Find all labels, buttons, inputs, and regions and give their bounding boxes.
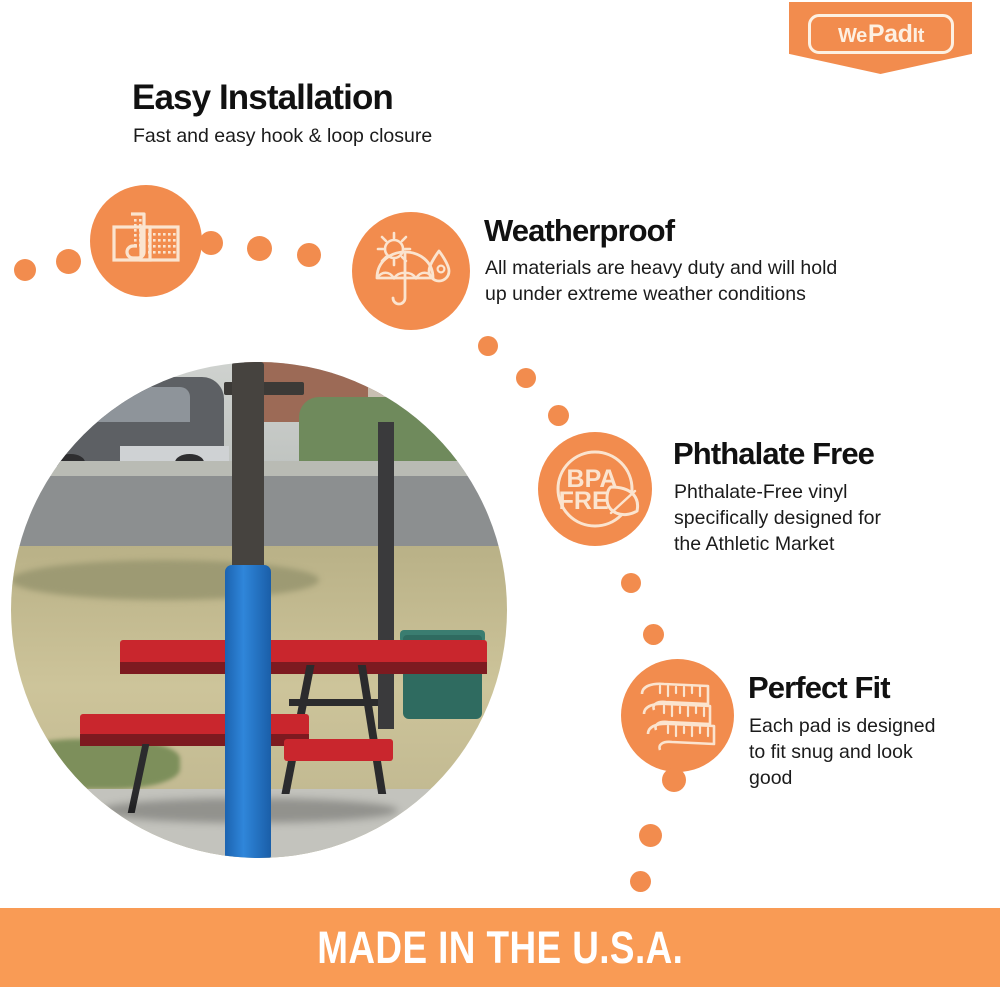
icon-circle-perfect-fit (621, 659, 734, 772)
brand-logo-badge: We Pad It (808, 14, 954, 54)
trail-dot (548, 405, 569, 426)
feature-title-weatherproof: Weatherproof (484, 215, 674, 248)
feature-desc-perfect-fit: Each pad is designed to fit snug and loo… (749, 714, 935, 792)
infographic-page: We Pad It Easy Installation Fast and eas… (0, 0, 1000, 987)
photo-scene (11, 362, 507, 858)
feature-desc-line: Each pad is designed (749, 714, 935, 740)
trail-dot (621, 573, 641, 593)
feature-desc-phthalate-free: Phthalate-Free vinyl specifically design… (674, 480, 881, 558)
trail-dot (478, 336, 498, 356)
measuring-tape-icon (636, 674, 720, 758)
trail-dot (199, 231, 223, 255)
icon-circle-easy-installation (90, 185, 202, 297)
trail-dot (630, 871, 651, 892)
feature-desc-line: good (749, 766, 935, 792)
feature-desc-line: Phthalate-Free vinyl (674, 480, 881, 506)
trail-dot (643, 624, 664, 645)
feature-desc-line: up under extreme weather conditions (485, 282, 837, 308)
trail-dot (297, 243, 321, 267)
photo-hedge (299, 397, 507, 461)
feature-title-easy-installation: Easy Installation (132, 80, 393, 117)
trail-dot (639, 824, 662, 847)
trail-dot (14, 259, 36, 281)
sun-umbrella-raindrop-icon (369, 231, 453, 311)
photo-table-crossbar (289, 699, 378, 706)
feature-desc-line: the Athletic Market (674, 532, 881, 558)
made-in-usa-text: MADE IN THE U.S.A. (317, 922, 683, 974)
photo-post (232, 362, 264, 590)
bpa-free-leaf-badge-icon: BPA FREE (545, 439, 645, 539)
photo-table-top (120, 640, 487, 665)
photo-table-top-edge (120, 662, 487, 674)
photo-grass-green (11, 739, 180, 789)
icon-circle-phthalate-free: BPA FREE (538, 432, 652, 546)
brand-logo-we: We (838, 26, 867, 46)
feature-title-perfect-fit: Perfect Fit (748, 672, 890, 705)
velcro-hook-loop-icon (111, 210, 181, 272)
feature-desc-easy-installation: Fast and easy hook & loop closure (133, 124, 432, 150)
trail-dot (516, 368, 536, 388)
made-in-usa-banner: MADE IN THE U.S.A. (0, 908, 1000, 987)
photo-bench (284, 739, 393, 761)
feature-desc-weatherproof: All materials are heavy duty and will ho… (485, 256, 837, 308)
brand-logo-text: We Pad It (838, 22, 924, 47)
photo-grass-patch (11, 560, 319, 600)
feature-title-phthalate-free: Phthalate Free (673, 438, 874, 471)
feature-desc-line: to fit snug and look (749, 740, 935, 766)
photo-blue-pole-pad (225, 565, 271, 858)
photo-bench-edge (80, 734, 308, 746)
brand-logo-it: It (913, 26, 924, 46)
trail-dot (662, 768, 686, 792)
brand-logo-pad: Pad (868, 22, 913, 47)
feature-desc-line: All materials are heavy duty and will ho… (485, 256, 837, 282)
photo-post-rear (378, 422, 394, 730)
icon-circle-weatherproof (352, 212, 470, 330)
trail-dot (247, 236, 272, 261)
photo-suv-window (61, 387, 190, 422)
feature-desc-line: Fast and easy hook & loop closure (133, 124, 432, 150)
feature-desc-line: specifically designed for (674, 506, 881, 532)
trail-dot (56, 249, 81, 274)
product-photo (11, 362, 507, 858)
